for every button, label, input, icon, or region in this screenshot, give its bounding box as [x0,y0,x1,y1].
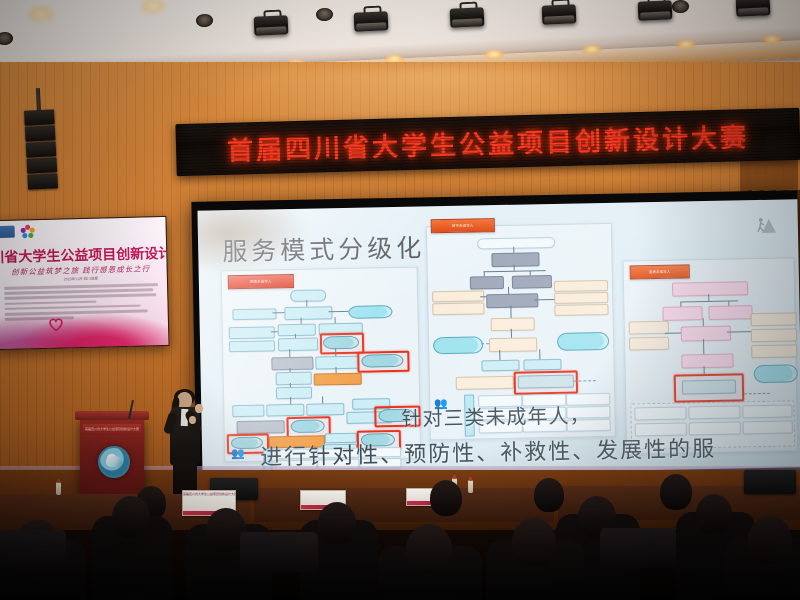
audience-head [406,524,452,574]
flow-node [276,372,312,386]
highlight-box [674,373,745,402]
flow-node [708,305,752,320]
flow-node [629,337,669,351]
flow-node [314,373,362,386]
laptop-icon [744,470,796,494]
flow-node [432,302,484,315]
line-array-speaker-icon [24,109,58,188]
flow-node [290,289,326,302]
heart-ribbon-icon [48,316,64,331]
audience-head [534,478,564,512]
flow-node [554,292,608,304]
lectern-top [75,411,149,420]
flow-node [315,356,359,370]
diagram-panel-right: 重病未成年人 [623,257,799,454]
flow-node [486,293,538,308]
presenter-hand [189,416,196,424]
flow-node [470,276,504,290]
flow-node [512,275,552,289]
flow-node [629,321,669,335]
highlight-box [357,351,409,373]
stage-spotlight-icon [635,0,674,26]
university-emblem-icon [98,446,130,478]
diagram-panel-left: 困境未成年人 [221,267,422,463]
user-group-icon: 👥 [231,449,245,460]
audience-head [748,516,792,564]
mountain-climber-icon [754,214,780,234]
flow-node [278,324,316,337]
auditorium-seat-icon [600,528,676,568]
audience-head [318,502,356,544]
flow-node [751,312,797,326]
flow-node [681,354,733,369]
flow-node [232,405,264,418]
flow-cylinder [348,305,392,319]
flow-node [751,328,797,342]
presenter [162,392,208,498]
flow-node [306,403,344,416]
flow-node [229,326,275,339]
audience-head [696,494,732,534]
panel-header-right: 重病未成年人 [630,264,690,279]
flow-cylinder [433,336,483,354]
slide-caption-line-1: 针对三类未成年人， [401,399,591,432]
slide-title: 服务模式分级化 [222,228,426,268]
flow-node [681,326,731,342]
flow-node [554,280,608,292]
flow-node [742,404,792,418]
projection-screen: 服务模式分级化 困境未成年人 [197,199,800,478]
flow-cylinder [754,364,798,383]
flow-node [688,405,740,419]
flow-node [481,360,519,372]
handheld-microphone-icon [195,404,203,413]
stage-spotlight-icon [447,1,486,33]
flow-node [278,337,318,351]
highlight-box [514,371,578,395]
flow-node [276,387,312,400]
flow-node [491,252,539,267]
flow-node [232,308,276,320]
auditorium-seat-icon [240,532,318,572]
audience-head [430,480,462,516]
flow-node [237,420,285,434]
flow-node [489,337,537,352]
flow-node [743,420,793,434]
auditorium-seat-icon [0,530,66,570]
flower-logo-icon [20,224,36,239]
flow-node [284,306,332,320]
event-poster: 川省大学生公益项目创新设计大赛 创新公益筑梦之旅 践行感恩成长之行 2023年1… [0,216,170,350]
university-logo-icon [0,226,15,238]
stage-spotlight-icon [733,0,772,22]
flow-node [634,406,686,420]
flow-node [266,404,304,417]
flow-node [491,317,535,331]
downlight-icon [28,6,54,22]
flow-node [229,340,275,352]
flow-node [456,376,514,390]
lectern-banner: 首届四川省大学生公益项目创新设计大赛 [83,424,141,435]
flow-node [477,237,555,249]
conference-hall-photo: 首届四川省大学生公益项目创新设计大赛 川省大学生公益项目创新设计大赛 创新公益筑… [0,0,800,600]
panel-header-left: 困境未成年人 [228,274,294,289]
flow-node [554,304,608,316]
judge-table [254,488,554,522]
audience-head [660,474,692,510]
flow-node [523,359,561,371]
poster-ribbon-graphic [0,305,169,350]
lectern: 首届四川省大学生公益项目创新设计大赛 [80,418,144,496]
flow-cylinder [557,332,609,351]
flow-node [672,281,748,296]
panel-header-middle: 留守未成年人 [431,218,495,233]
stage-spotlight-icon [351,5,390,37]
flow-node [432,290,484,302]
stage-spotlight-icon [251,9,290,41]
flow-node [271,357,313,371]
flow-node [751,344,797,358]
water-bottle-icon [56,482,61,495]
audience-head [112,496,150,538]
flow-node [662,306,702,321]
stage-spotlight-icon [539,0,578,30]
audience-head [512,518,556,566]
water-bottle-icon [468,480,473,493]
